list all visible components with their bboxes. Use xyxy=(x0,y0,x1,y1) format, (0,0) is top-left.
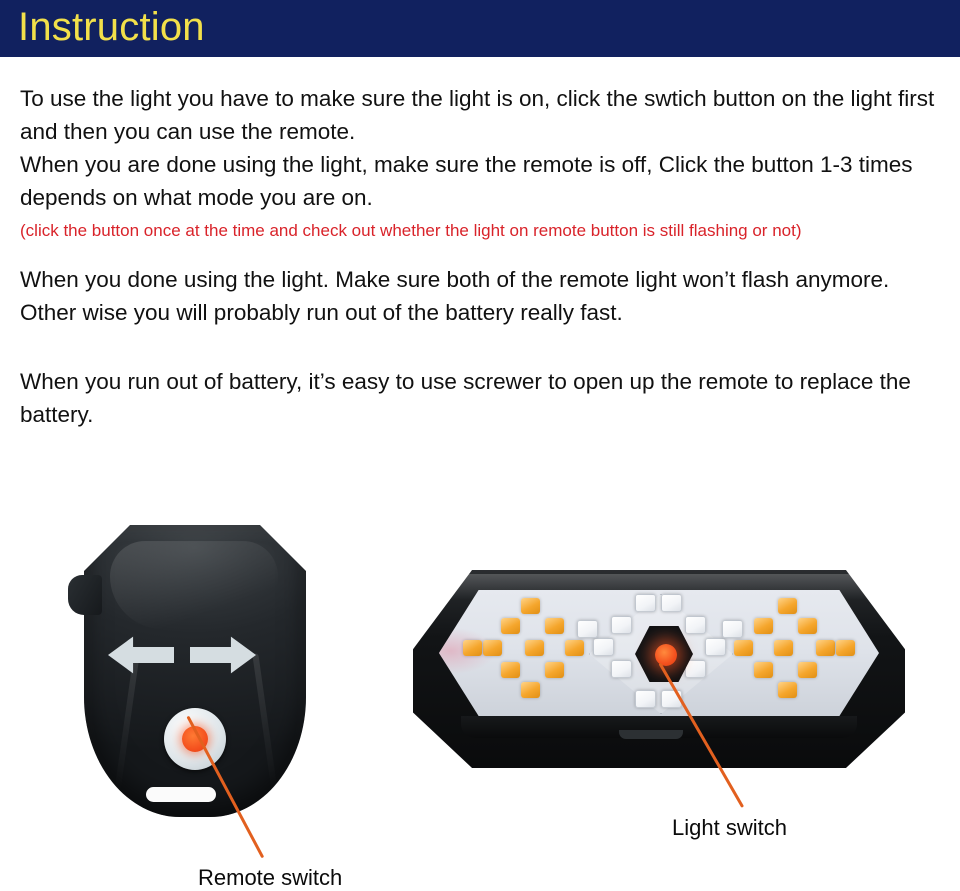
amber-led xyxy=(545,618,564,634)
remote-control-figure xyxy=(62,525,320,822)
amber-led xyxy=(463,640,482,656)
white-led xyxy=(685,616,706,634)
white-led xyxy=(611,660,632,678)
amber-led xyxy=(778,682,797,698)
instruction-paragraph-1: To use the light you have to make sure t… xyxy=(20,82,950,148)
page-title: Instruction xyxy=(18,1,205,53)
header-banner: Instruction xyxy=(0,0,960,57)
product-figures xyxy=(0,470,960,891)
amber-led xyxy=(565,640,584,656)
light-switch-label: Light switch xyxy=(672,815,787,841)
amber-led xyxy=(798,662,817,678)
instruction-paragraph-4: When you run out of battery, it’s easy t… xyxy=(20,365,950,431)
light-lens xyxy=(439,590,879,716)
amber-led xyxy=(798,618,817,634)
remote-switch-label: Remote switch xyxy=(198,865,342,891)
amber-led xyxy=(836,640,855,656)
amber-led xyxy=(754,662,773,678)
light-base-notch xyxy=(619,730,683,739)
amber-led xyxy=(545,662,564,678)
amber-led xyxy=(525,640,544,656)
white-led xyxy=(722,620,743,638)
remote-switch-button[interactable] xyxy=(164,708,226,770)
white-led xyxy=(661,594,682,612)
white-led xyxy=(705,638,726,656)
amber-led xyxy=(778,598,797,614)
white-led xyxy=(635,594,656,612)
remote-side-nub xyxy=(68,575,102,615)
amber-led xyxy=(501,662,520,678)
amber-led xyxy=(816,640,835,656)
white-led xyxy=(577,620,598,638)
text-spacer xyxy=(20,243,950,263)
amber-led xyxy=(754,618,773,634)
instruction-paragraph-3: When you done using the light. Make sure… xyxy=(20,263,950,329)
amber-led xyxy=(501,618,520,634)
amber-led xyxy=(483,640,502,656)
instruction-paragraph-2: When you are done using the light, make … xyxy=(20,148,950,214)
amber-led xyxy=(774,640,793,656)
amber-led xyxy=(734,640,753,656)
text-spacer xyxy=(20,329,950,365)
remote-keyring-slot xyxy=(146,787,216,802)
led-light-figure xyxy=(413,570,905,768)
amber-led xyxy=(521,682,540,698)
amber-led xyxy=(521,598,540,614)
white-led xyxy=(593,638,614,656)
white-led xyxy=(635,690,656,708)
instruction-warning-note: (click the button once at the time and c… xyxy=(20,218,950,243)
instruction-text-block: To use the light you have to make sure t… xyxy=(20,82,950,431)
white-led xyxy=(611,616,632,634)
